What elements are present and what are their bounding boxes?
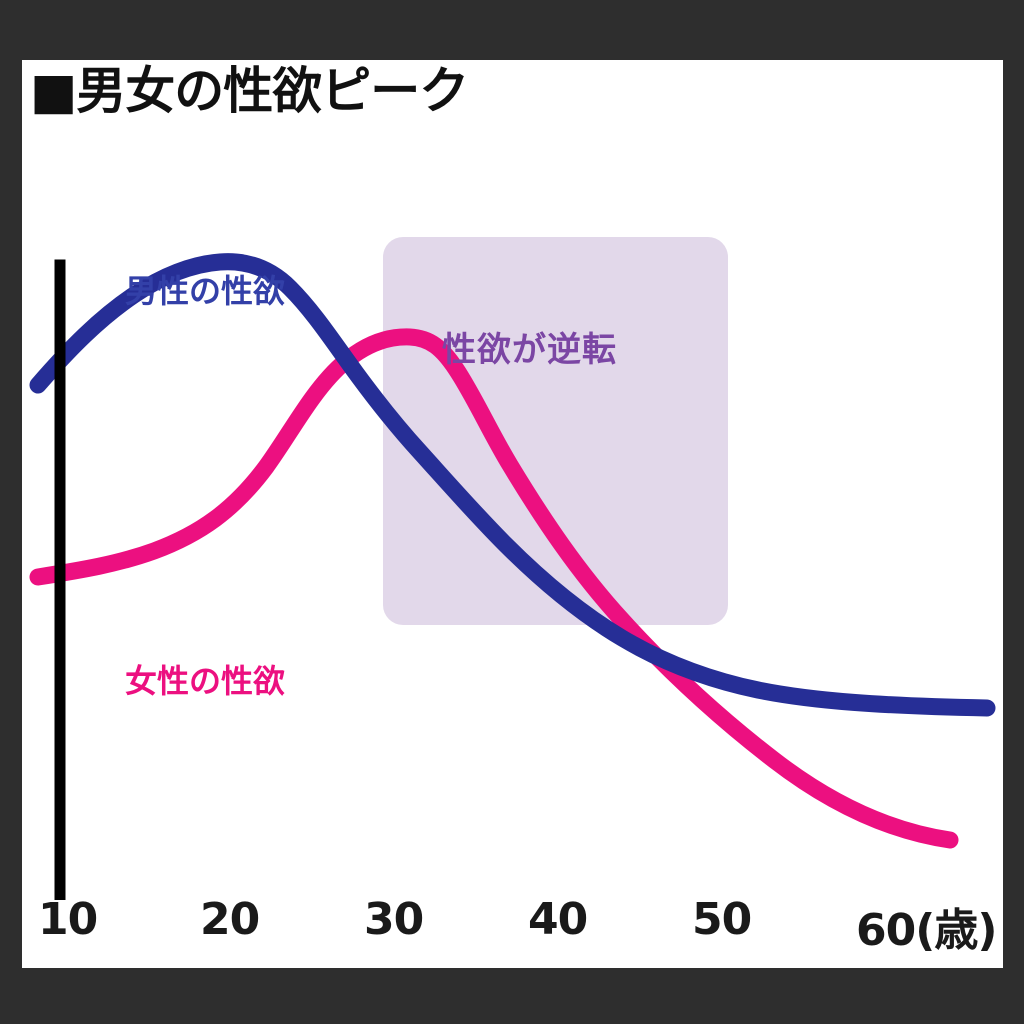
annotation-label: 性欲が逆転 <box>442 322 617 371</box>
series-label-male: 男性の性欲 <box>125 266 285 312</box>
series-label-female: 女性の性欲 <box>125 656 285 702</box>
annotation-box <box>383 237 728 625</box>
x-tick-60: 60(歳) <box>856 894 996 958</box>
image-frame: ■男女の性欲ピーク 男性の性欲 女性の性欲 性欲が逆転 10 20 30 40 … <box>0 0 1024 1024</box>
x-tick-30: 30 <box>364 894 423 945</box>
chart-card: ■男女の性欲ピーク 男性の性欲 女性の性欲 性欲が逆転 10 20 30 40 … <box>22 60 1003 968</box>
x-tick-40: 40 <box>528 894 587 945</box>
x-tick-50: 50 <box>692 894 751 945</box>
x-tick-10: 10 <box>38 894 97 945</box>
page-title: ■男女の性欲ピーク <box>30 62 468 121</box>
x-tick-20: 20 <box>200 894 259 945</box>
x-axis-tick-labels: 10 20 30 40 50 60(歳) <box>22 894 1003 964</box>
chart-plot-area: 男性の性欲 女性の性欲 性欲が逆転 <box>22 140 1003 900</box>
